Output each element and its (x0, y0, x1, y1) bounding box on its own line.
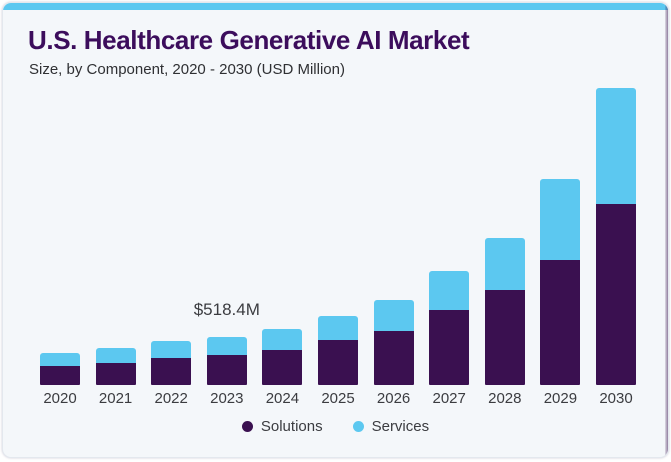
bar-group-2025[interactable]: 2025 (318, 316, 358, 385)
bar-segment-services-2021[interactable] (96, 348, 136, 362)
bar-segment-solutions-2028[interactable] (485, 290, 525, 385)
bar-segment-services-2024[interactable] (262, 329, 302, 350)
bar-segment-solutions-2021[interactable] (96, 363, 136, 385)
x-axis-label-2022: 2022 (155, 390, 188, 407)
bar-segment-solutions-2027[interactable] (429, 310, 469, 385)
bar-group-2029[interactable]: 2029 (540, 179, 580, 385)
x-axis-label-2023: 2023 (210, 390, 243, 407)
bar-segment-services-2022[interactable] (151, 341, 191, 358)
bar-group-2021[interactable]: 2021 (96, 348, 136, 385)
legend-swatch-icon (242, 421, 253, 432)
bar-group-2024[interactable]: 2024 (262, 329, 302, 385)
x-axis-label-2020: 2020 (43, 390, 76, 407)
bar-group-2030[interactable]: 2030 (596, 88, 636, 385)
x-axis-label-2029: 2029 (544, 390, 577, 407)
bar-segment-services-2028[interactable] (485, 238, 525, 291)
x-axis-label-2024: 2024 (266, 390, 299, 407)
x-axis-label-2026: 2026 (377, 390, 410, 407)
bar-group-2022[interactable]: 2022 (151, 341, 191, 385)
bar-group-2028[interactable]: 2028 (485, 238, 525, 385)
x-axis-label-2027: 2027 (433, 390, 466, 407)
bar-group-2020[interactable]: 2020 (40, 353, 80, 385)
x-axis-label-2028: 2028 (488, 390, 521, 407)
bar-segment-solutions-2024[interactable] (262, 350, 302, 385)
value-annotation: $518.4M (194, 300, 260, 320)
chart-card: U.S. Healthcare Generative AI Market Siz… (2, 2, 669, 458)
bar-segment-solutions-2030[interactable] (596, 204, 636, 385)
bar-segment-solutions-2022[interactable] (151, 358, 191, 385)
x-axis-label-2030: 2030 (599, 390, 632, 407)
bar-group-2023[interactable]: 2023 (207, 337, 247, 385)
bar-segment-solutions-2026[interactable] (374, 331, 414, 385)
legend-label: Solutions (261, 418, 323, 435)
bar-segment-services-2025[interactable] (318, 316, 358, 340)
bar-segment-services-2029[interactable] (540, 179, 580, 260)
bar-segment-solutions-2025[interactable] (318, 340, 358, 385)
bar-segment-solutions-2023[interactable] (207, 355, 247, 385)
bar-segment-services-2026[interactable] (374, 300, 414, 331)
legend-label: Services (372, 418, 430, 435)
bar-segment-services-2023[interactable] (207, 337, 247, 355)
bar-segment-services-2030[interactable] (596, 88, 636, 204)
bar-segment-services-2027[interactable] (429, 271, 469, 309)
x-axis-label-2021: 2021 (99, 390, 132, 407)
legend-swatch-icon (353, 421, 364, 432)
x-axis-label-2025: 2025 (321, 390, 354, 407)
chart-legend: SolutionsServices (3, 418, 668, 435)
plot-area: 2020202120222023202420252026202720282029… (3, 3, 669, 458)
chart-screenshot: U.S. Healthcare Generative AI Market Siz… (0, 0, 671, 462)
legend-item-services[interactable]: Services (353, 418, 430, 435)
bar-group-2027[interactable]: 2027 (429, 271, 469, 385)
bar-segment-solutions-2020[interactable] (40, 366, 80, 385)
bar-segment-services-2020[interactable] (40, 353, 80, 366)
bar-group-2026[interactable]: 2026 (374, 300, 414, 385)
legend-item-solutions[interactable]: Solutions (242, 418, 323, 435)
bar-segment-solutions-2029[interactable] (540, 260, 580, 385)
